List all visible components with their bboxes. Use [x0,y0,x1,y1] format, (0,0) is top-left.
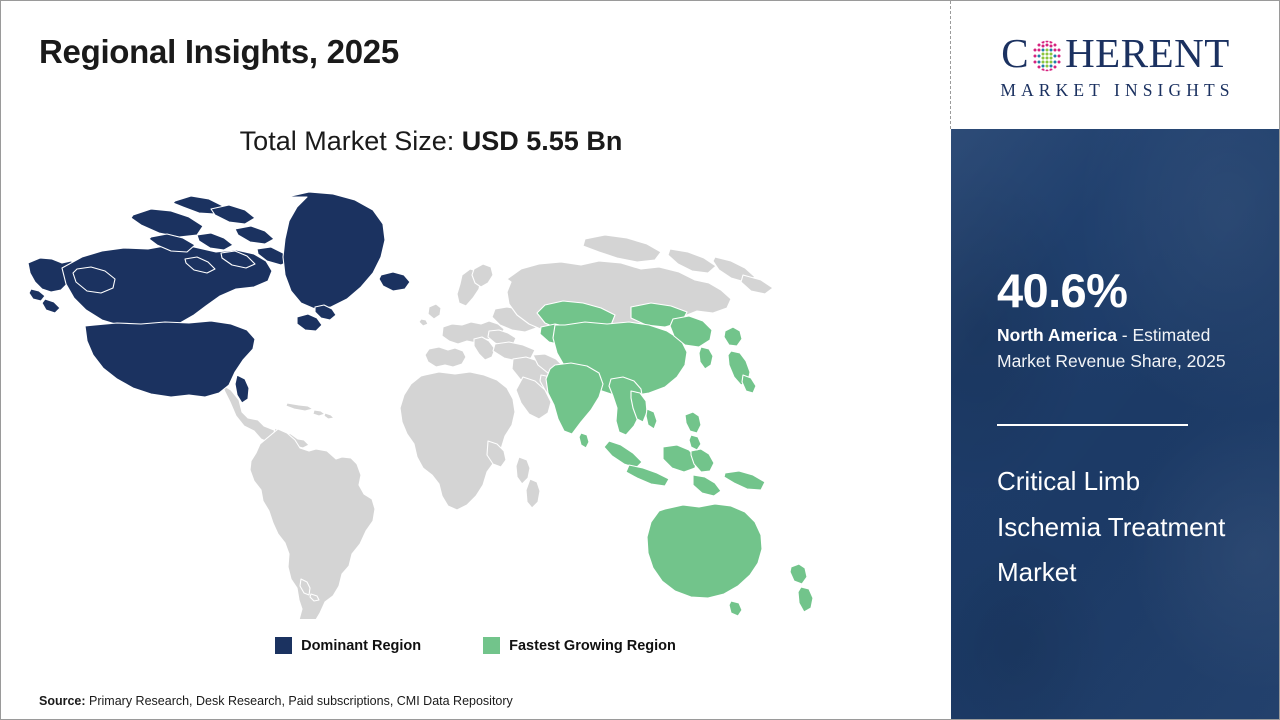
market-name: Critical Limb Ischemia Treatment Market [997,459,1247,596]
coherent-market-insights-logo: C [966,31,1266,100]
logo-subtitle: MARKET INSIGHTS [966,82,1266,100]
logo-letter-c: C [1001,33,1029,74]
left-panel: Regional Insights, 2025 Total Market Siz… [1,1,950,719]
market-share-value: 40.6% [997,267,1127,314]
panel-content: 40.6% North America - Estimated Market R… [951,129,1280,719]
market-size-value: USD 5.55 Bn [462,126,623,156]
infographic-root: Regional Insights, 2025 Total Market Siz… [0,0,1280,720]
legend-label-fastest-growing: Fastest Growing Region [509,638,676,654]
world-map-container [25,179,855,619]
dominant-region-name: North America [997,325,1117,345]
globe-dots-icon [1030,39,1064,73]
map-region-north-america [28,192,410,403]
legend-item-fastest-growing: Fastest Growing Region [483,637,676,654]
page-title: Regional Insights, 2025 [39,33,399,71]
market-share-description: North America - Estimated Market Revenue… [997,323,1262,374]
legend-swatch-dominant [275,637,292,654]
logo-area: C [951,1,1280,129]
logo-letters-herent: HERENT [1065,33,1230,74]
highlight-panel: 40.6% North America - Estimated Market R… [951,129,1280,719]
panel-divider-rule [997,424,1188,426]
map-legend: Dominant Region Fastest Growing Region [1,637,950,654]
market-size-label: Total Market Size: [240,126,455,156]
total-market-size: Total Market Size: USD 5.55 Bn [1,126,861,157]
source-text: Primary Research, Desk Research, Paid su… [89,694,513,708]
source-label: Source: [39,694,86,708]
source-line: Source: Primary Research, Desk Research,… [39,694,513,708]
logo-wordmark: C [966,31,1266,77]
world-map [25,179,855,619]
map-region-asia-pacific [537,301,813,616]
legend-label-dominant: Dominant Region [301,638,421,654]
legend-swatch-fastest-growing [483,637,500,654]
legend-item-dominant: Dominant Region [275,637,421,654]
